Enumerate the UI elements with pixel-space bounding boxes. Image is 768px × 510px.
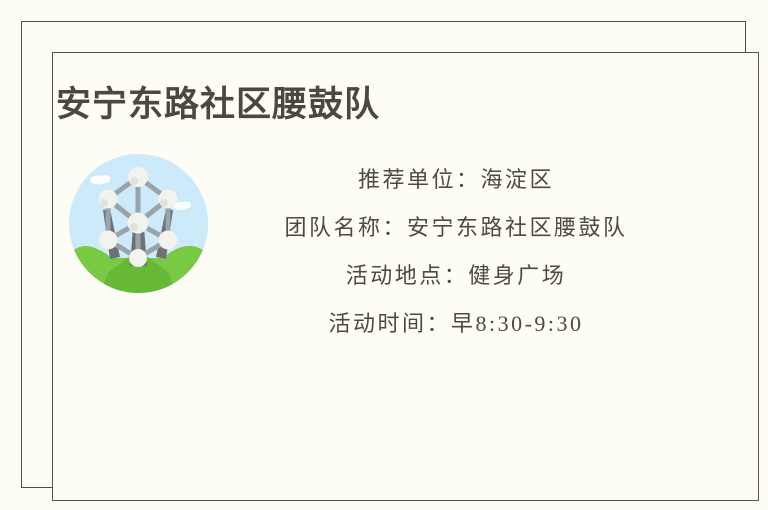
team-thumbnail-image <box>69 154 208 293</box>
detail-activity-location: 活动地点：健身广场 <box>216 252 696 300</box>
detail-team-name: 团队名称：安宁东路社区腰鼓队 <box>216 204 696 252</box>
team-details-list: 推荐单位：海淀区 团队名称：安宁东路社区腰鼓队 活动地点：健身广场 活动时间：早… <box>216 156 696 348</box>
card-content: 推荐单位：海淀区 团队名称：安宁东路社区腰鼓队 活动地点：健身广场 活动时间：早… <box>56 150 696 350</box>
detail-recommending-unit: 推荐单位：海淀区 <box>216 156 696 204</box>
detail-activity-time: 活动时间：早8:30-9:30 <box>216 300 696 348</box>
atomium-monument-icon <box>69 154 208 293</box>
page-root: 安宁东路社区腰鼓队 <box>0 0 768 510</box>
page-title: 安宁东路社区腰鼓队 <box>56 83 380 127</box>
